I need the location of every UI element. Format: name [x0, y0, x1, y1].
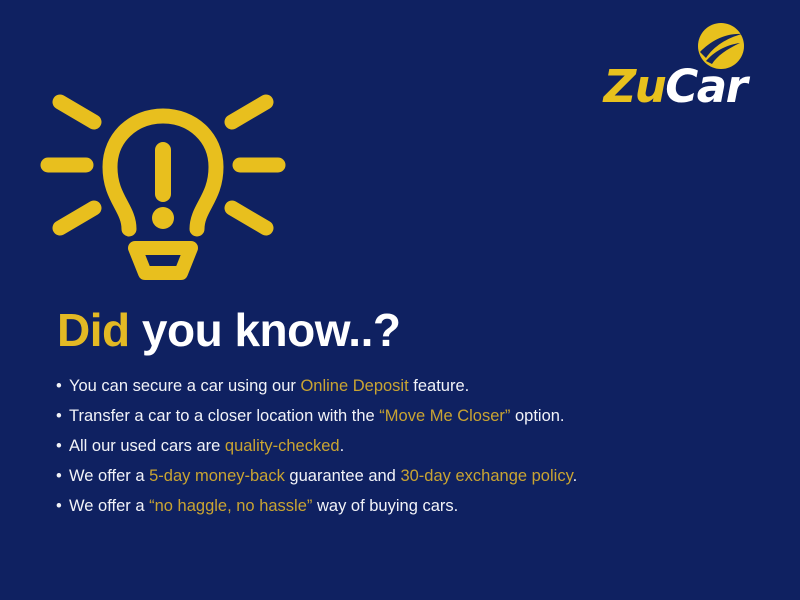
bullet-marker: •	[56, 436, 62, 456]
brand-logo: ZuCar	[580, 22, 770, 122]
body-text: You can secure a car using our	[69, 377, 300, 395]
brand-word-primary: Zu	[604, 60, 666, 113]
promo-slide: ZuCar	[0, 0, 800, 600]
body-text: .	[573, 467, 578, 485]
body-text: We offer a	[69, 467, 149, 485]
brand-wordmark: ZuCar	[580, 64, 770, 109]
page-title-accent: Did	[57, 304, 130, 356]
highlight-text: 5-day money-back	[149, 467, 285, 485]
lightbulb-icon	[38, 68, 288, 283]
body-text: option.	[510, 407, 564, 425]
bullet-marker: •	[56, 466, 62, 486]
list-item: •We offer a 5-day money-back guarantee a…	[56, 466, 756, 486]
bullet-marker: •	[56, 496, 62, 516]
page-title-main: you know..?	[142, 304, 401, 356]
body-text: All our used cars are	[69, 437, 225, 455]
page-title-rest	[130, 304, 142, 356]
list-item: •You can secure a car using our Online D…	[56, 376, 756, 396]
fact-list: •You can secure a car using our Online D…	[56, 376, 756, 516]
body-text: guarantee and	[285, 467, 401, 485]
body-text: feature.	[409, 377, 470, 395]
body-text: .	[340, 437, 345, 455]
highlight-text: “no haggle, no hassle”	[149, 497, 312, 515]
body-text: way of buying cars.	[312, 497, 458, 515]
page-title: Did you know..?	[57, 306, 400, 356]
list-item: •Transfer a car to a closer location wit…	[56, 406, 756, 426]
brand-word-secondary: Car	[665, 60, 746, 113]
list-item: •We offer a “no haggle, no hassle” way o…	[56, 496, 756, 516]
highlight-text: 30-day exchange policy	[400, 467, 572, 485]
bullet-marker: •	[56, 406, 62, 426]
highlight-text: quality-checked	[225, 437, 340, 455]
body-text: Transfer a car to a closer location with…	[69, 407, 379, 425]
list-item: •All our used cars are quality-checked.	[56, 436, 756, 456]
bullet-marker: •	[56, 376, 62, 396]
highlight-text: Online Deposit	[300, 377, 408, 395]
highlight-text: “Move Me Closer”	[379, 407, 510, 425]
body-text: We offer a	[69, 497, 149, 515]
